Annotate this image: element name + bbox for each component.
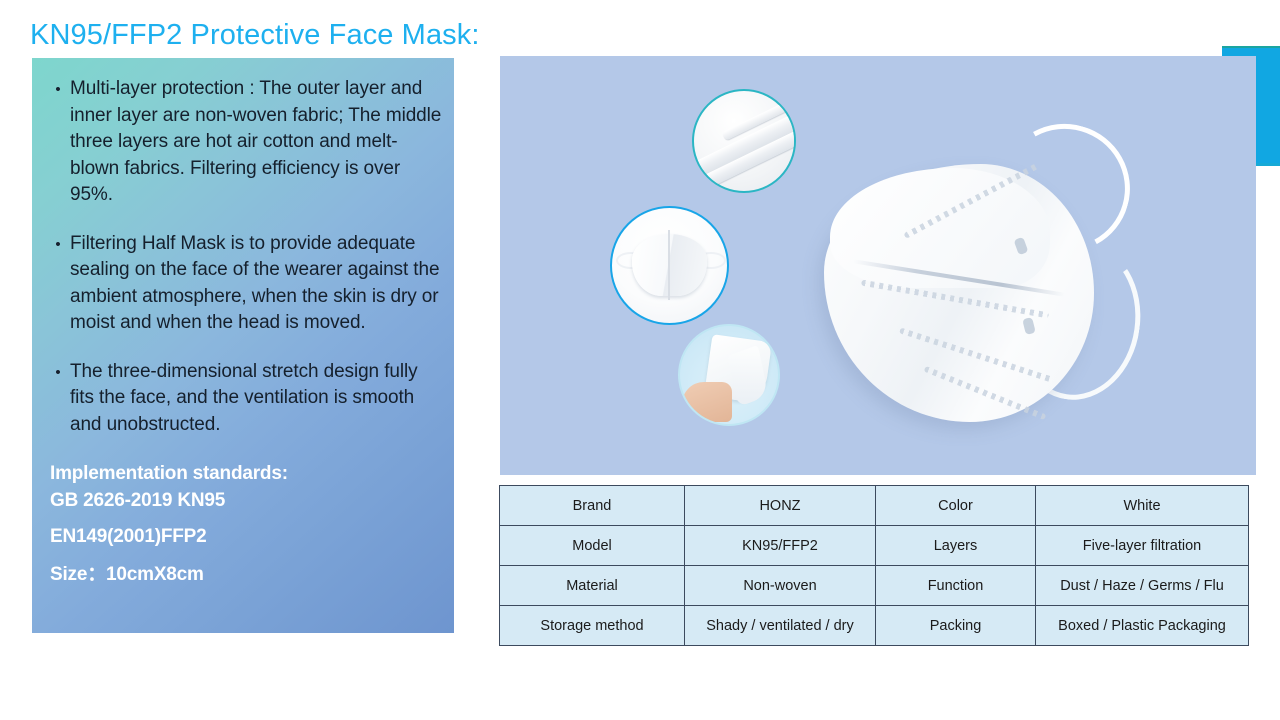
table-row: Storage method Shady / ventilated / dry …	[500, 606, 1249, 646]
table-cell-label: Material	[500, 566, 685, 606]
bullet-icon: •	[42, 76, 70, 103]
table-row: Material Non-woven Function Dust / Haze …	[500, 566, 1249, 606]
mask-upper-panel	[830, 168, 1050, 288]
standards-line-gb: GB 2626-2019 KN95	[50, 487, 442, 514]
faint-residual-text	[36, 640, 436, 658]
table-cell-value: Dust / Haze / Germs / Flu	[1036, 566, 1249, 606]
table-cell-label: Brand	[500, 486, 685, 526]
standards-line-en: EN149(2001)FFP2	[50, 522, 442, 552]
bullet-icon: •	[42, 359, 70, 386]
table-cell-label: Function	[876, 566, 1036, 606]
mask-center-seam	[668, 230, 670, 300]
bullet-icon: •	[42, 231, 70, 258]
page-title: KN95/FFP2 Protective Face Mask:	[30, 16, 730, 54]
feature-bullet-text-1: Multi-layer protection : The outer layer…	[70, 76, 442, 209]
table-cell-value: Boxed / Plastic Packaging	[1036, 606, 1249, 646]
table-cell-value: HONZ	[685, 486, 876, 526]
slide-canvas: KN95/FFP2 Protective Face Mask: • Multi-…	[0, 0, 1280, 720]
feature-bullet-text-3: The three-dimensional stretch design ful…	[70, 359, 442, 439]
table-cell-value: Shady / ventilated / dry	[685, 606, 876, 646]
table-row: Model KN95/FFP2 Layers Five-layer filtra…	[500, 526, 1249, 566]
table-cell-value: Non-woven	[685, 566, 876, 606]
feature-bullet-text-2: Filtering Half Mask is to provide adequa…	[70, 231, 442, 337]
table-cell-value: KN95/FFP2	[685, 526, 876, 566]
table-cell-label: Color	[876, 486, 1036, 526]
table-cell-label: Packing	[876, 606, 1036, 646]
specification-table: Brand HONZ Color White Model KN95/FFP2 L…	[499, 485, 1249, 646]
list-item: • Filtering Half Mask is to provide adeq…	[42, 231, 442, 337]
standards-line-size: Size：10cmX8cm	[50, 560, 442, 590]
implementation-standards-block: Implementation standards: GB 2626-2019 K…	[42, 460, 442, 590]
standards-heading: Implementation standards:	[50, 460, 442, 487]
nose-wire-pleats-detail-icon	[692, 89, 796, 193]
table-cell-value: White	[1036, 486, 1249, 526]
hand-holding-mask-detail-icon	[678, 324, 780, 426]
list-item: • The three-dimensional stretch design f…	[42, 359, 442, 439]
mask-front-view-detail-icon	[610, 206, 729, 325]
product-photo	[500, 56, 1256, 475]
table-cell-label: Layers	[876, 526, 1036, 566]
feature-panel: • Multi-layer protection : The outer lay…	[32, 58, 454, 633]
table-cell-label: Storage method	[500, 606, 685, 646]
kn95-mask-three-quarter-view-icon	[800, 146, 1150, 446]
list-item: • Multi-layer protection : The outer lay…	[42, 76, 442, 209]
table-cell-value: Five-layer filtration	[1036, 526, 1249, 566]
table-row: Brand HONZ Color White	[500, 486, 1249, 526]
table-cell-label: Model	[500, 526, 685, 566]
hand-shape	[682, 382, 732, 422]
